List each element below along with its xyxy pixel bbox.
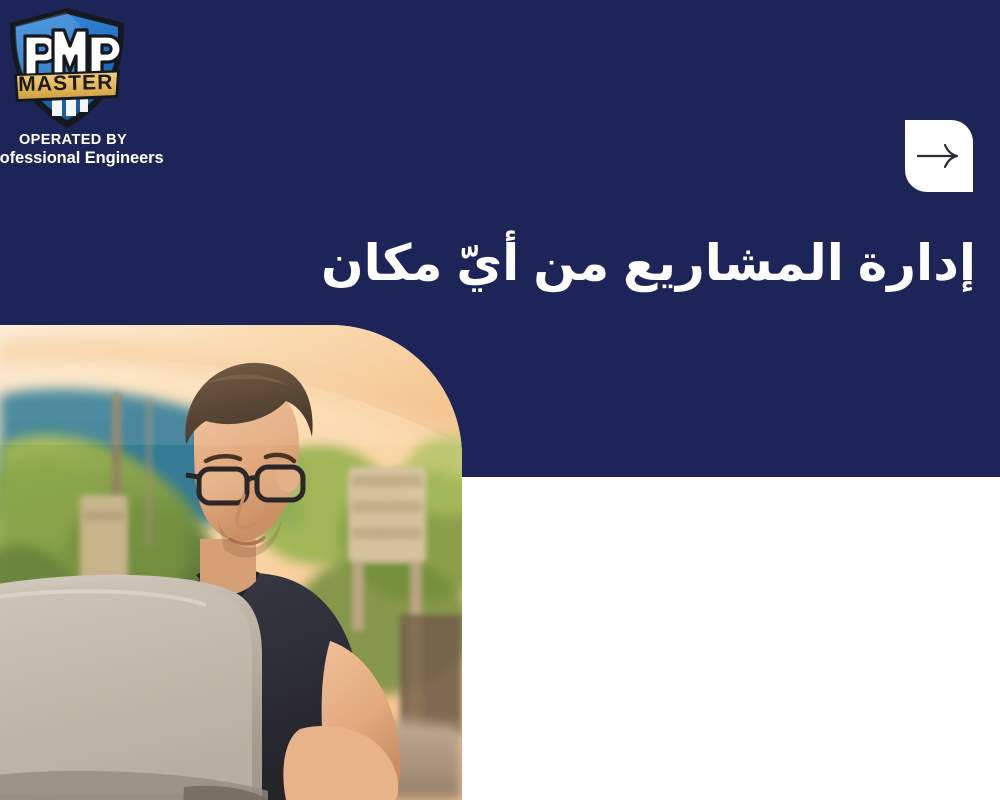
slide-root: MASTER OPERATED BY Professional Engineer… bbox=[0, 0, 1000, 800]
pmp-master-shield-icon: MASTER bbox=[8, 8, 126, 128]
brand-logo[interactable]: MASTER OPERATED BY Professional Engineer… bbox=[0, 6, 168, 181]
next-slide-button[interactable] bbox=[905, 120, 973, 192]
arrow-right-icon bbox=[917, 143, 961, 169]
logo-tagline: OPERATED BY Professional Engineers bbox=[0, 132, 168, 168]
hero-headline: إدارة المشاريع من أيّ مكان bbox=[76, 232, 976, 295]
logo-tagline-line2: Professional Engineers bbox=[0, 149, 168, 167]
hero-photo bbox=[0, 325, 462, 800]
logo-tagline-line1: OPERATED BY bbox=[0, 132, 168, 148]
svg-text:MASTER: MASTER bbox=[18, 71, 114, 96]
